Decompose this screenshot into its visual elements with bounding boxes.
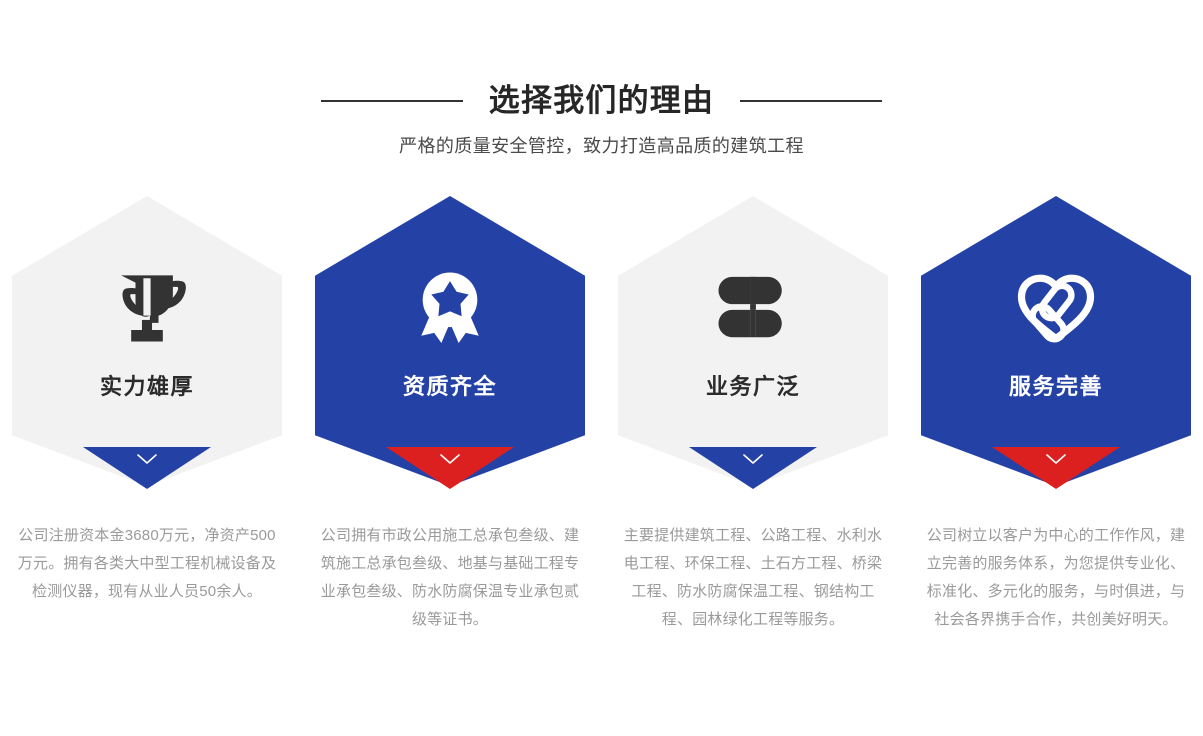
feature-card[interactable]: 业务广泛 主要提供建筑工程、公路工程、水利水电工程、环保工程、土石方工程、桥梁工… bbox=[612, 196, 894, 634]
hexagon-wrapper[interactable]: 服务完善 bbox=[921, 196, 1191, 486]
hexagon-wrapper[interactable]: 实力雄厚 bbox=[12, 196, 282, 486]
chevron-down-icon bbox=[136, 453, 158, 465]
hexagon-panel: 实力雄厚 bbox=[12, 196, 282, 486]
reasons-section: 选择我们的理由 严格的质量安全管控，致力打造高品质的建筑工程 bbox=[0, 0, 1203, 736]
medal-icon bbox=[397, 254, 503, 360]
title-rule-right bbox=[740, 100, 882, 102]
trophy-icon bbox=[94, 254, 200, 360]
feature-card[interactable]: 服务完善 公司树立以客户为中心的工作作风，建立完善的服务体系，为您提供专业化、标… bbox=[915, 196, 1197, 634]
chevron-down-icon bbox=[1045, 453, 1067, 465]
card-description: 主要提供建筑工程、公路工程、水利水电工程、环保工程、土石方工程、桥梁工程、防水防… bbox=[619, 522, 887, 634]
heart-links-icon bbox=[1003, 254, 1109, 360]
card-description: 公司拥有市政公用施工总承包叁级、建筑施工总承包叁级、地基与基础工程专业承包叁级、… bbox=[316, 522, 584, 634]
feature-card[interactable]: 实力雄厚 公司注册资本金3680万元，净资产500万元。拥有各类大中型工程机械设… bbox=[6, 196, 288, 634]
hexagon-panel: 服务完善 bbox=[921, 196, 1191, 486]
feature-card[interactable]: 资质齐全 公司拥有市政公用施工总承包叁级、建筑施工总承包叁级、地基与基础工程专业… bbox=[309, 196, 591, 634]
card-description: 公司树立以客户为中心的工作作风，建立完善的服务体系，为您提供专业化、标准化、多元… bbox=[922, 522, 1190, 634]
title-row: 选择我们的理由 bbox=[0, 78, 1203, 124]
page-title: 选择我们的理由 bbox=[489, 78, 714, 124]
card-title: 服务完善 bbox=[1009, 372, 1103, 402]
card-title: 业务广泛 bbox=[706, 372, 800, 402]
card-title: 资质齐全 bbox=[403, 372, 497, 402]
clover-icon bbox=[700, 254, 806, 360]
card-title: 实力雄厚 bbox=[100, 372, 194, 402]
hexagon-panel: 业务广泛 bbox=[618, 196, 888, 486]
card-list: 实力雄厚 公司注册资本金3680万元，净资产500万元。拥有各类大中型工程机械设… bbox=[0, 196, 1203, 634]
chevron-down-icon bbox=[439, 453, 461, 465]
hexagon-wrapper[interactable]: 资质齐全 bbox=[315, 196, 585, 486]
card-description: 公司注册资本金3680万元，净资产500万元。拥有各类大中型工程机械设备及检测仪… bbox=[13, 522, 281, 606]
hexagon-wrapper[interactable]: 业务广泛 bbox=[618, 196, 888, 486]
hexagon-panel: 资质齐全 bbox=[315, 196, 585, 486]
section-header: 选择我们的理由 严格的质量安全管控，致力打造高品质的建筑工程 bbox=[0, 78, 1203, 160]
title-rule-left bbox=[321, 100, 463, 102]
section-subtitle: 严格的质量安全管控，致力打造高品质的建筑工程 bbox=[0, 132, 1203, 160]
chevron-down-icon bbox=[742, 453, 764, 465]
